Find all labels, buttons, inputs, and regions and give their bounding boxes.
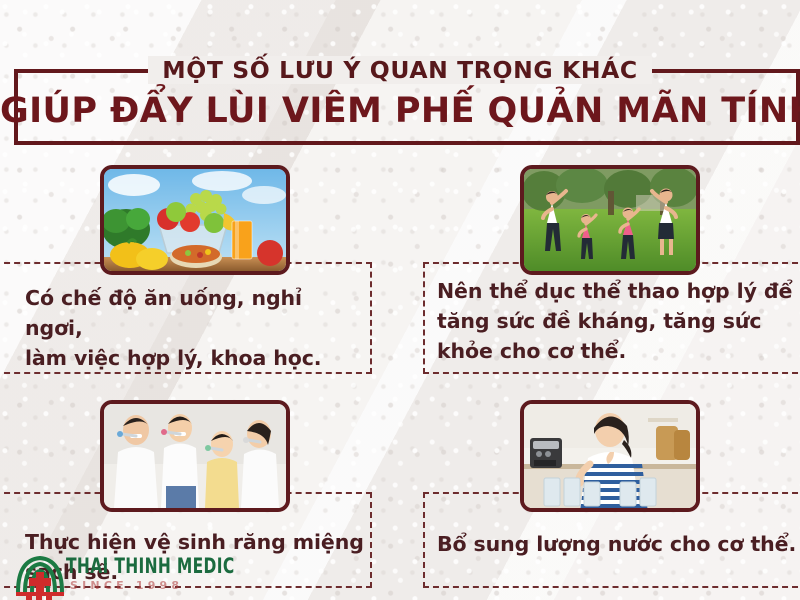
card-exercise-text: Nên thể dục thể thao hợp lý để tăng sức … xyxy=(437,277,797,367)
clinic-arch-cross-logo-icon xyxy=(14,550,66,600)
photo-brushing-teeth xyxy=(100,400,290,512)
card-line: Bổ sung lượng nước cho cơ thể. xyxy=(437,530,797,560)
card-line: Nên thể dục thể thao hợp lý để xyxy=(437,277,797,307)
card-line: Có chế độ ăn uống, nghỉ ngơi, xyxy=(25,284,355,344)
card-diet-rest-text: Có chế độ ăn uống, nghỉ ngơi, làm việc h… xyxy=(25,284,355,374)
card-line: làm việc hợp lý, khoa học. xyxy=(25,344,355,374)
header-title: GIÚP ĐẨY LÙI VIÊM PHẾ QUẢN MÃN TÍNH xyxy=(0,91,800,131)
header: MỘT SỐ LƯU Ý QUAN TRỌNG KHÁC GIÚP ĐẨY LÙ… xyxy=(0,47,800,145)
watermark-logo: THAI THINH MEDIC SINCE 1998 xyxy=(14,548,314,600)
infographic-page: MỘT SỐ LƯU Ý QUAN TRỌNG KHÁC GIÚP ĐẨY LÙ… xyxy=(0,0,800,600)
family-brushing-teeth-photo xyxy=(104,404,286,508)
watermark-tagline: SINCE 1998 xyxy=(70,579,183,592)
photo-healthy-food xyxy=(100,165,290,275)
card-line: tăng sức đề kháng, tăng sức xyxy=(437,307,797,337)
card-hydration-text: Bổ sung lượng nước cho cơ thể. xyxy=(437,530,797,560)
woman-in-kitchen-with-water-glasses-photo xyxy=(524,404,696,508)
photo-drinking-water xyxy=(520,400,700,512)
header-subtitle-text: MỘT SỐ LƯU Ý QUAN TRỌNG KHÁC xyxy=(148,56,651,84)
watermark-brand: THAI THINH MEDIC xyxy=(66,554,235,578)
header-subtitle: MỘT SỐ LƯU Ý QUAN TRỌNG KHÁC xyxy=(0,56,800,84)
healthy-fruits-vegetables-juice-photo xyxy=(104,169,286,271)
card-line: khỏe cho cơ thể. xyxy=(437,337,797,367)
family-exercising-outdoors-photo xyxy=(524,169,696,271)
photo-family-exercise xyxy=(520,165,700,275)
